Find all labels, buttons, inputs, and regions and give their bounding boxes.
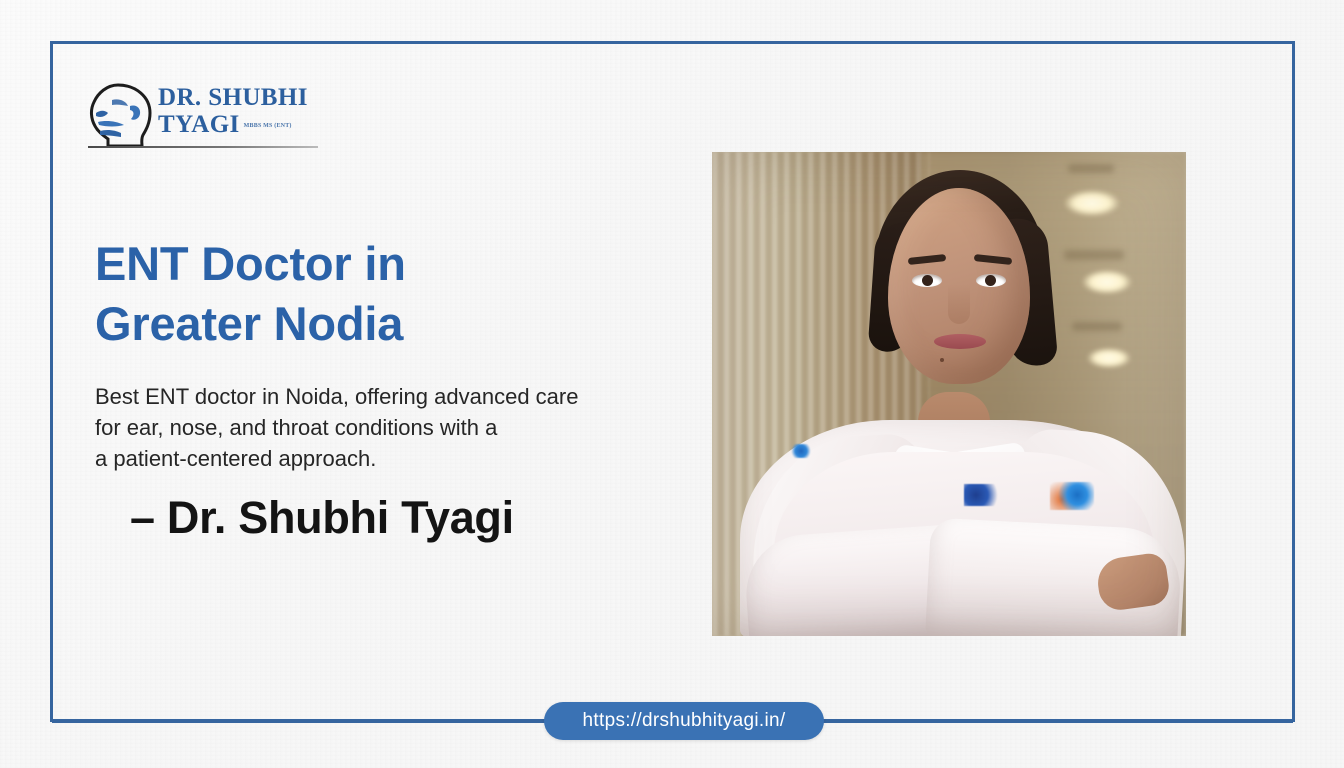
headline-line-1: ENT Doctor in xyxy=(95,234,655,294)
description-line-1: Best ENT doctor in Noida, offering advan… xyxy=(95,381,665,412)
head-profile-ent-icon xyxy=(86,82,164,150)
coat-logo-badge xyxy=(964,484,1004,506)
pupil-left xyxy=(922,275,933,286)
logo-credentials: MBBS MS (ENT) xyxy=(244,113,292,140)
doctor-signature: – Dr. Shubhi Tyagi xyxy=(130,492,514,544)
website-url-pill[interactable]: https://drshubhityagi.in/ xyxy=(544,702,824,740)
brand-logo[interactable]: DR. SHUBHI TYAGIMBBS MS (ENT) xyxy=(86,82,318,152)
chin-mole xyxy=(940,358,944,362)
logo-underline xyxy=(88,146,318,148)
pupil-right xyxy=(985,275,996,286)
logo-line-2: TYAGI xyxy=(158,111,240,138)
banner-canvas: DR. SHUBHI TYAGIMBBS MS (ENT) ENT Doctor… xyxy=(0,0,1344,768)
coat-emblem-badge xyxy=(1050,482,1094,510)
sleeve-logo-badge xyxy=(790,444,812,458)
logo-line-1: DR. SHUBHI xyxy=(158,85,320,111)
doctor-figure xyxy=(712,152,1186,636)
lips xyxy=(934,334,986,349)
description-line-2: for ear, nose, and throat conditions wit… xyxy=(95,412,665,443)
nose xyxy=(948,284,970,324)
doctor-photo xyxy=(712,152,1186,636)
headline-line-2: Greater Nodia xyxy=(95,294,655,354)
page-title: ENT Doctor in Greater Nodia xyxy=(95,234,655,354)
description-text: Best ENT doctor in Noida, offering advan… xyxy=(95,381,665,474)
description-line-3: a patient-centered approach. xyxy=(95,443,665,474)
